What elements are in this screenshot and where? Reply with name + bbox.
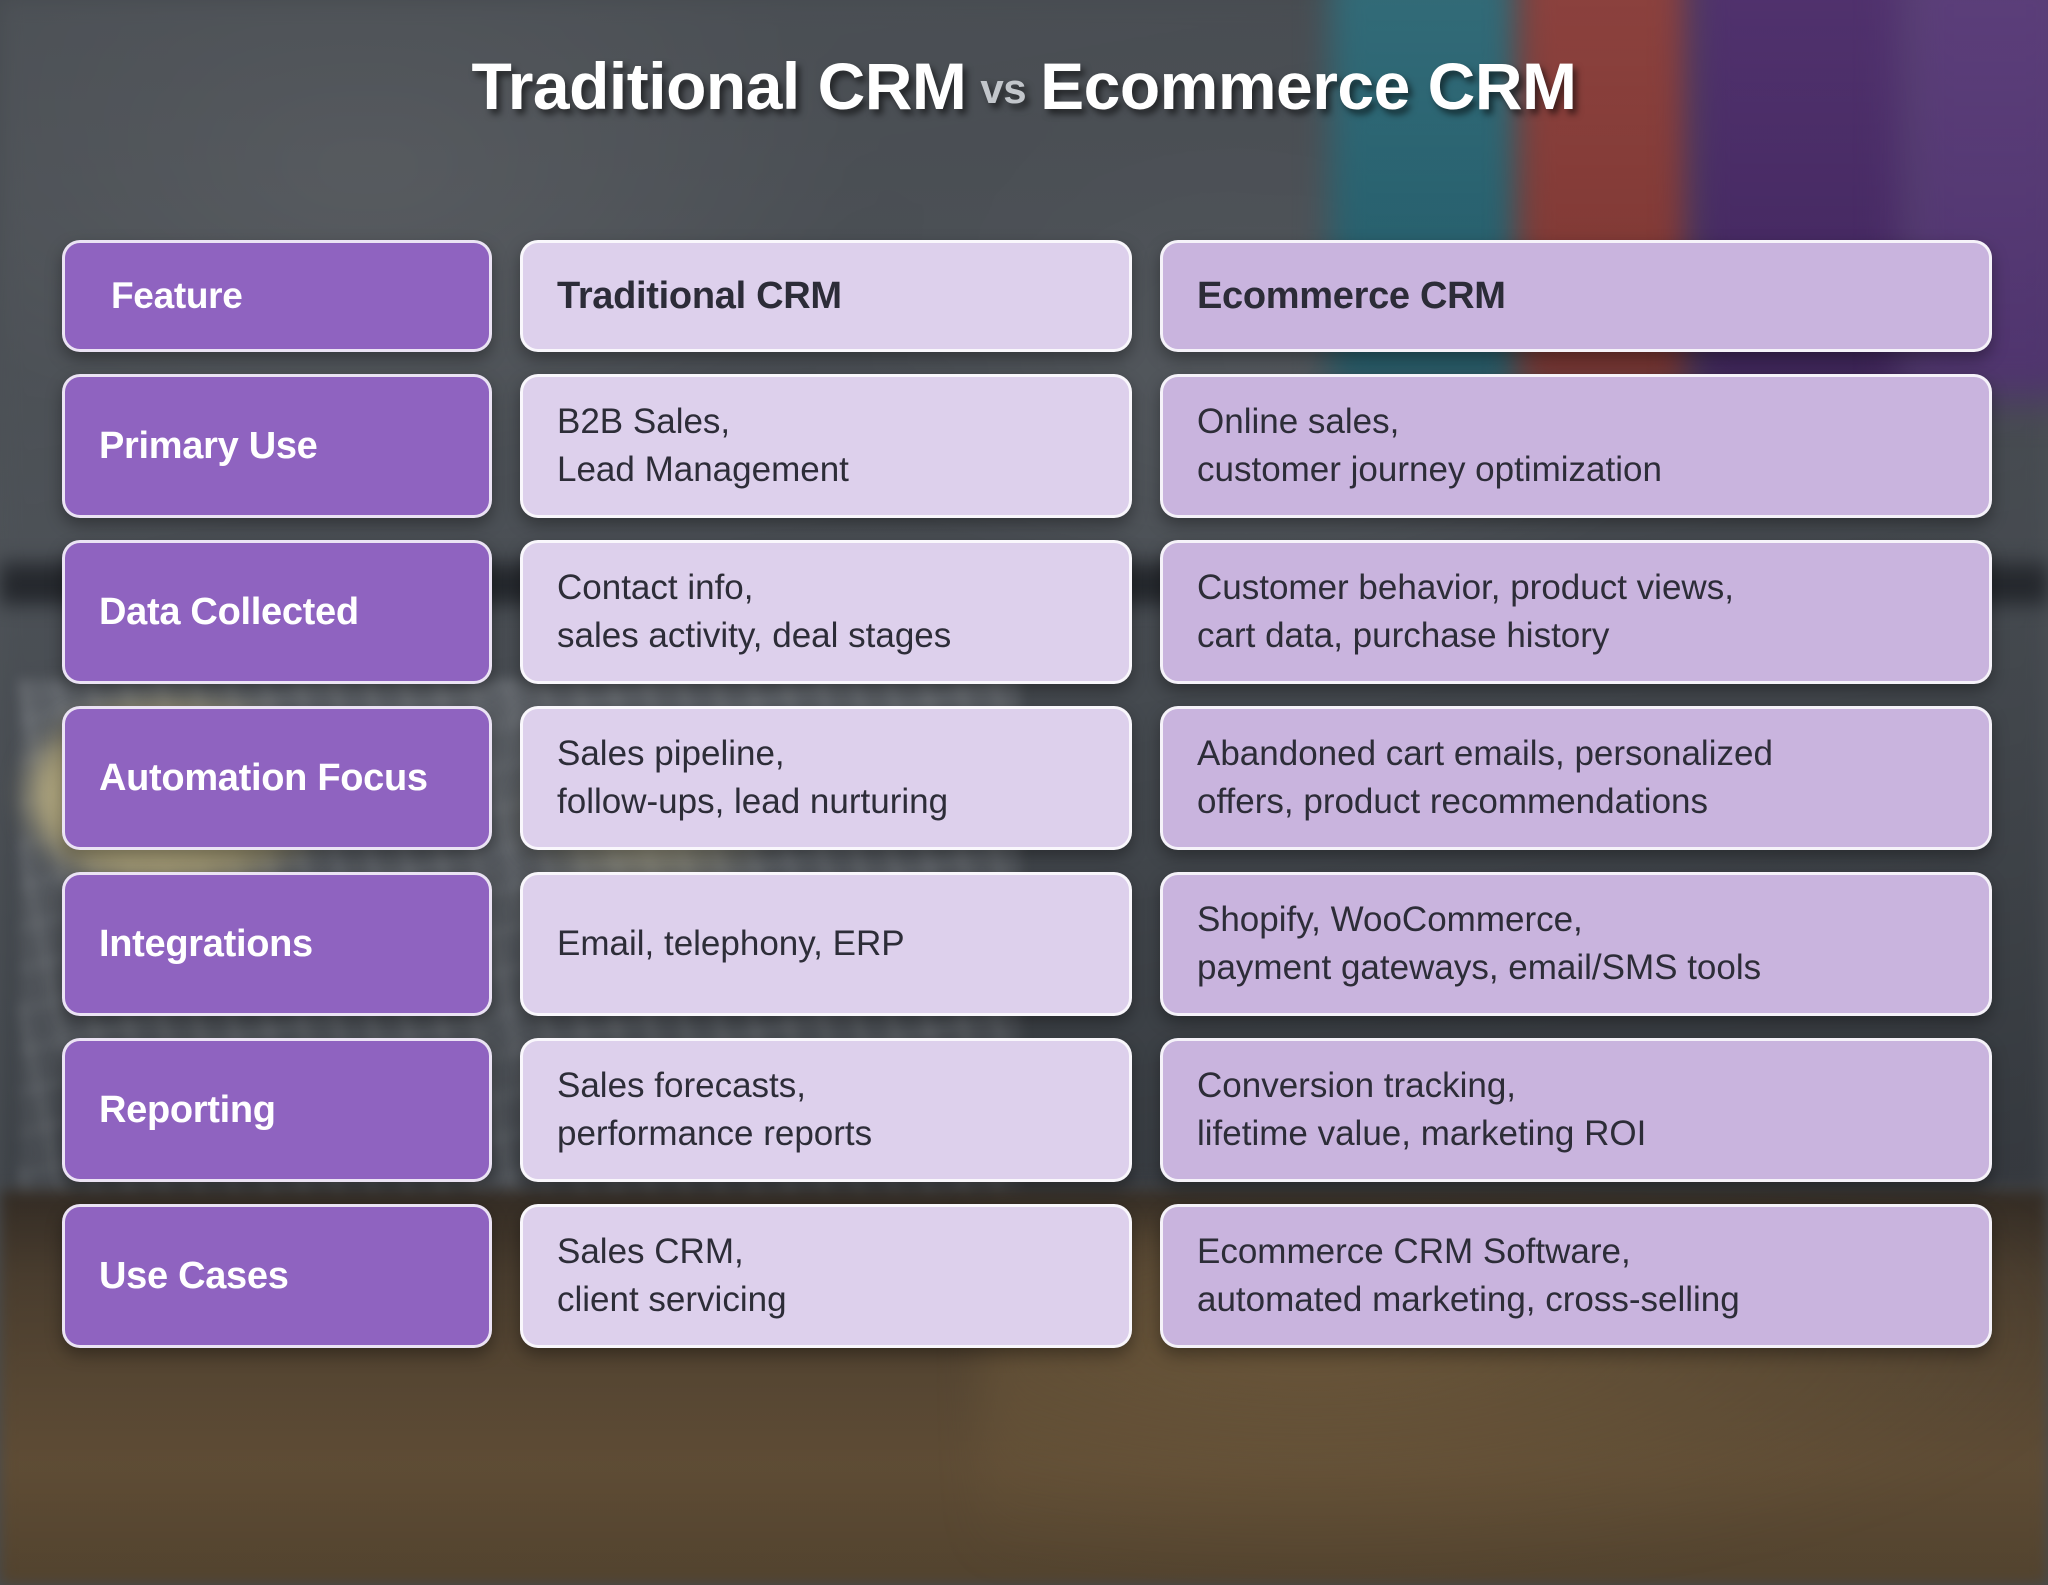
traditional-cell-use-cases: Sales CRM, client servicing bbox=[520, 1204, 1132, 1348]
header-cell-traditional-crm: Traditional CRM bbox=[520, 240, 1132, 352]
table-row: Use Cases Sales CRM, client servicing Ec… bbox=[62, 1204, 1992, 1348]
feature-label: Integrations bbox=[99, 923, 313, 966]
traditional-value: B2B Sales, Lead Management bbox=[557, 398, 849, 493]
title-right-term: Ecommerce CRM bbox=[1040, 49, 1576, 123]
ecommerce-cell-data-collected: Customer behavior, product views, cart d… bbox=[1160, 540, 1992, 684]
ecommerce-value: Ecommerce CRM Software, automated market… bbox=[1197, 1228, 1740, 1323]
ecommerce-value: Abandoned cart emails, personalized offe… bbox=[1197, 730, 1773, 825]
ecommerce-value: Shopify, WooCommerce, payment gateways, … bbox=[1197, 896, 1761, 991]
ecommerce-value: Customer behavior, product views, cart d… bbox=[1197, 564, 1734, 659]
traditional-cell-reporting: Sales forecasts, performance reports bbox=[520, 1038, 1132, 1182]
title-vs-separator: vs bbox=[980, 65, 1026, 112]
feature-cell-primary-use: Primary Use bbox=[62, 374, 492, 518]
traditional-value: Email, telephony, ERP bbox=[557, 920, 905, 968]
feature-label: Automation Focus bbox=[99, 757, 428, 800]
traditional-value: Sales CRM, client servicing bbox=[557, 1228, 787, 1323]
ecommerce-cell-primary-use: Online sales, customer journey optimizat… bbox=[1160, 374, 1992, 518]
feature-label: Reporting bbox=[99, 1089, 276, 1132]
table-row: Reporting Sales forecasts, performance r… bbox=[62, 1038, 1992, 1182]
table-row: Automation Focus Sales pipeline, follow-… bbox=[62, 706, 1992, 850]
traditional-cell-automation-focus: Sales pipeline, follow-ups, lead nurturi… bbox=[520, 706, 1132, 850]
feature-cell-automation-focus: Automation Focus bbox=[62, 706, 492, 850]
ecommerce-cell-reporting: Conversion tracking, lifetime value, mar… bbox=[1160, 1038, 1992, 1182]
page-title: Traditional CRMvsEcommerce CRM bbox=[0, 48, 2048, 124]
feature-cell-reporting: Reporting bbox=[62, 1038, 492, 1182]
ecommerce-cell-use-cases: Ecommerce CRM Software, automated market… bbox=[1160, 1204, 1992, 1348]
header-cell-ecommerce-crm: Ecommerce CRM bbox=[1160, 240, 1992, 352]
feature-cell-use-cases: Use Cases bbox=[62, 1204, 492, 1348]
ecommerce-cell-integrations: Shopify, WooCommerce, payment gateways, … bbox=[1160, 872, 1992, 1016]
traditional-value: Sales pipeline, follow-ups, lead nurturi… bbox=[557, 730, 948, 825]
ecommerce-value: Conversion tracking, lifetime value, mar… bbox=[1197, 1062, 1646, 1157]
traditional-value: Sales forecasts, performance reports bbox=[557, 1062, 872, 1157]
feature-cell-data-collected: Data Collected bbox=[62, 540, 492, 684]
header-label-traditional-crm: Traditional CRM bbox=[557, 275, 842, 318]
traditional-value: Contact info, sales activity, deal stage… bbox=[557, 564, 951, 659]
ecommerce-cell-automation-focus: Abandoned cart emails, personalized offe… bbox=[1160, 706, 1992, 850]
header-cell-feature: Feature bbox=[62, 240, 492, 352]
table-row: Integrations Email, telephony, ERP Shopi… bbox=[62, 872, 1992, 1016]
ecommerce-value: Online sales, customer journey optimizat… bbox=[1197, 398, 1662, 493]
feature-label: Use Cases bbox=[99, 1255, 289, 1298]
comparison-table: Feature Traditional CRM Ecommerce CRM Pr… bbox=[62, 240, 1992, 1348]
header-label-ecommerce-crm: Ecommerce CRM bbox=[1197, 275, 1506, 318]
table-row: Primary Use B2B Sales, Lead Management O… bbox=[62, 374, 1992, 518]
feature-cell-integrations: Integrations bbox=[62, 872, 492, 1016]
table-header-row: Feature Traditional CRM Ecommerce CRM bbox=[62, 240, 1992, 352]
traditional-cell-data-collected: Contact info, sales activity, deal stage… bbox=[520, 540, 1132, 684]
table-row: Data Collected Contact info, sales activ… bbox=[62, 540, 1992, 684]
traditional-cell-integrations: Email, telephony, ERP bbox=[520, 872, 1132, 1016]
feature-label: Data Collected bbox=[99, 591, 359, 634]
feature-label: Primary Use bbox=[99, 425, 318, 468]
header-label-feature: Feature bbox=[111, 275, 243, 316]
title-left-term: Traditional CRM bbox=[472, 49, 967, 123]
traditional-cell-primary-use: B2B Sales, Lead Management bbox=[520, 374, 1132, 518]
